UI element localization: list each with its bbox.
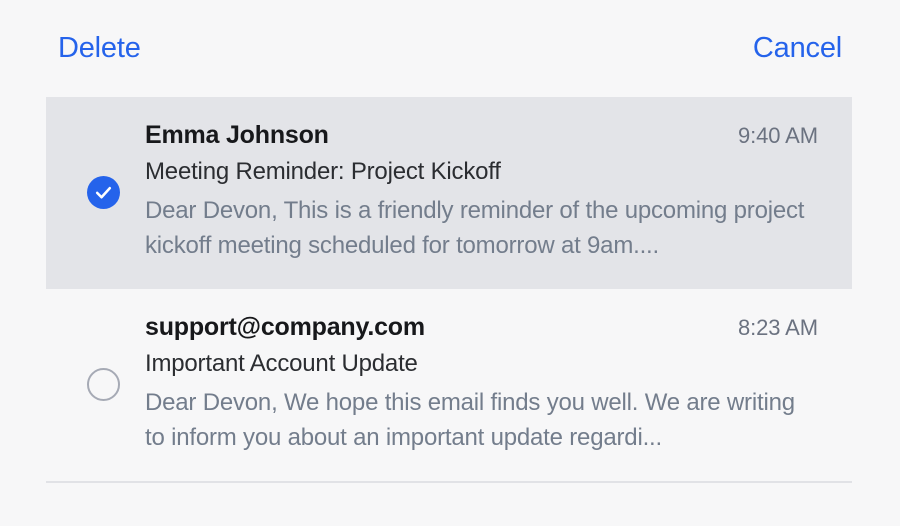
checkbox-checked-icon[interactable]	[87, 176, 120, 209]
email-sender: support@company.com	[145, 313, 425, 342]
email-header-line: support@company.com 8:23 AM	[145, 313, 818, 342]
email-timestamp: 8:23 AM	[738, 315, 818, 341]
email-list: Emma Johnson 9:40 AM Meeting Reminder: P…	[46, 97, 852, 483]
email-header-line: Emma Johnson 9:40 AM	[145, 121, 818, 150]
checkbox-cell	[46, 368, 145, 401]
email-list-item[interactable]: support@company.com 8:23 AM Important Ac…	[46, 289, 852, 481]
email-timestamp: 9:40 AM	[738, 123, 818, 149]
email-preview: Dear Devon, We hope this email finds you…	[145, 385, 818, 455]
email-sender: Emma Johnson	[145, 121, 329, 150]
toolbar: Delete Cancel	[0, 0, 900, 97]
delete-button[interactable]: Delete	[58, 34, 141, 63]
checkbox-cell	[46, 176, 145, 209]
email-content: Emma Johnson 9:40 AM Meeting Reminder: P…	[145, 121, 852, 263]
checkbox-unchecked-icon[interactable]	[87, 368, 120, 401]
email-subject: Important Account Update	[145, 350, 818, 378]
email-preview: Dear Devon, This is a friendly reminder …	[145, 193, 818, 263]
list-divider	[46, 481, 852, 483]
email-list-item[interactable]: Emma Johnson 9:40 AM Meeting Reminder: P…	[46, 97, 852, 289]
email-content: support@company.com 8:23 AM Important Ac…	[145, 313, 852, 455]
cancel-button[interactable]: Cancel	[753, 34, 842, 63]
email-subject: Meeting Reminder: Project Kickoff	[145, 158, 818, 186]
email-selection-screen: Delete Cancel Emma Johnson 9:40 AM Meeti…	[0, 0, 900, 526]
